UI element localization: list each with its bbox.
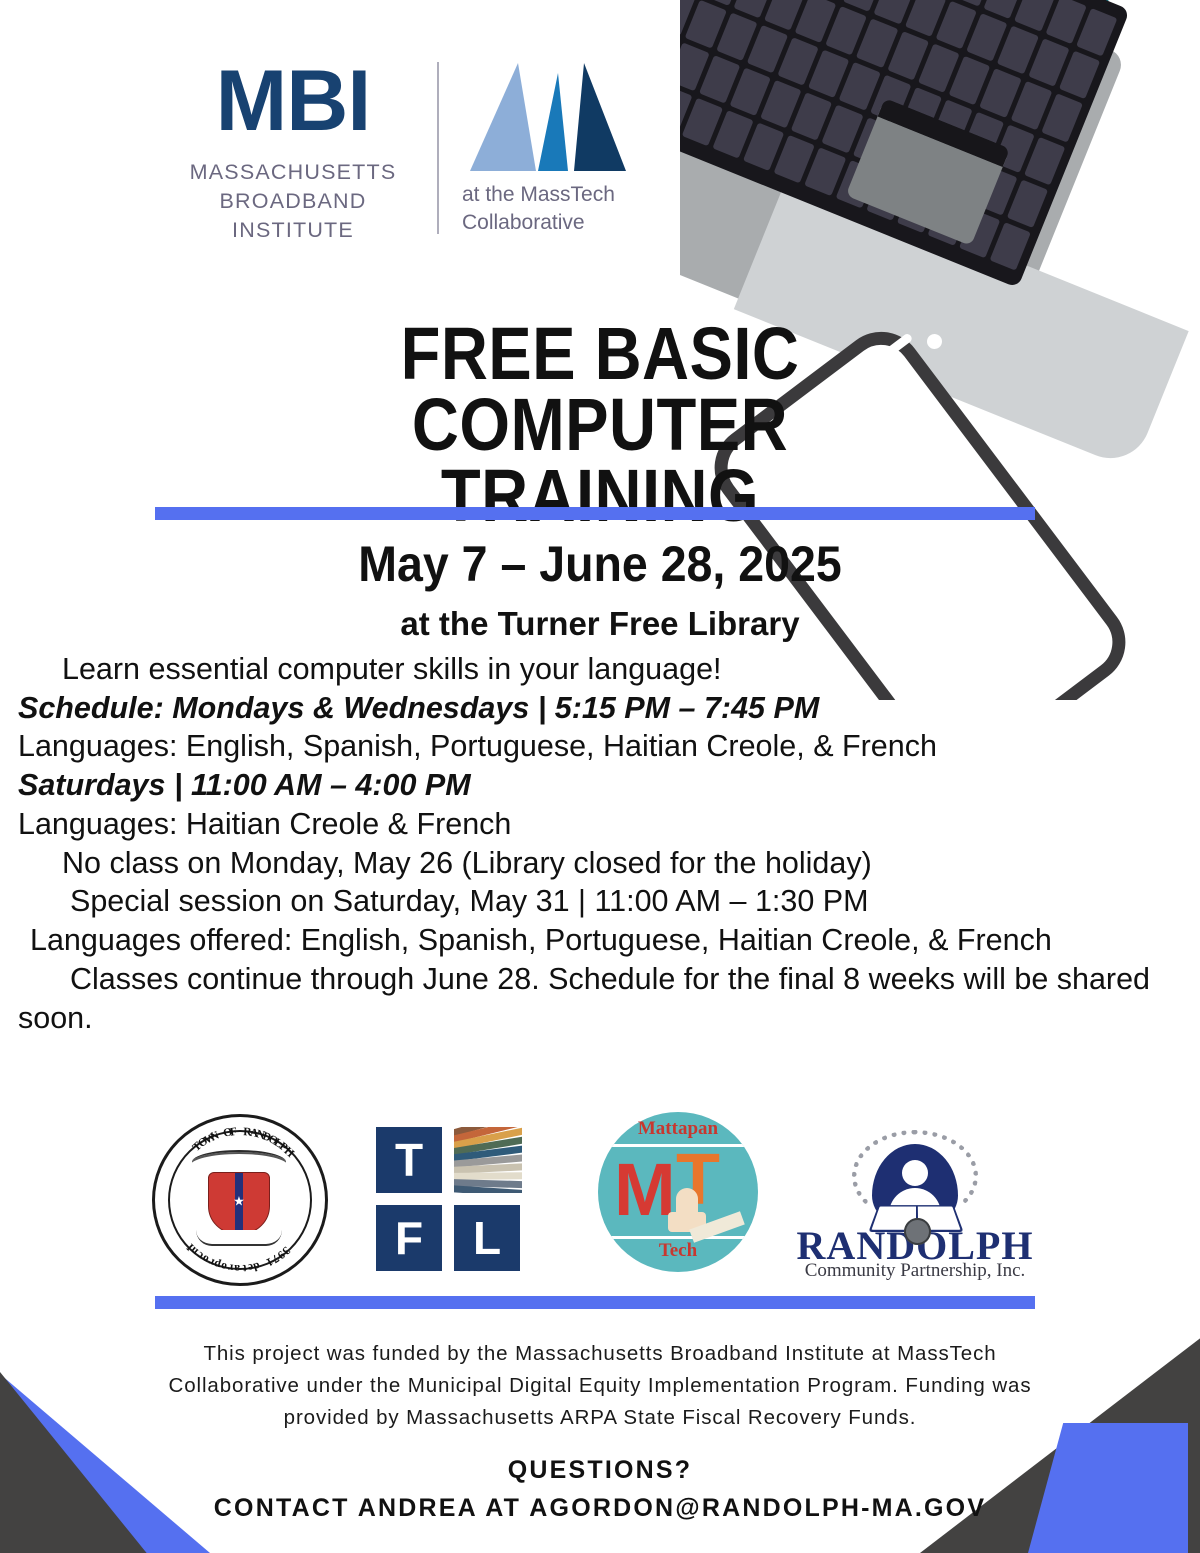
mbi-acronym: MBI bbox=[168, 58, 418, 144]
mattapan-tech-logo: M T Mattapan Tech bbox=[598, 1112, 758, 1272]
laptop-screen-icon bbox=[680, 0, 1171, 41]
details-line: Saturdays | 11:00 AM – 4:00 PM bbox=[18, 766, 1183, 805]
masstech-wordmark: at the MassTech Collaborative bbox=[462, 181, 662, 238]
details-line: No class on Monday, May 26 (Library clos… bbox=[18, 844, 1183, 883]
details-line: Schedule: Mondays & Wednesdays | 5:15 PM… bbox=[18, 689, 1183, 728]
accent-bar-top bbox=[155, 507, 1035, 520]
venue-name: at the Turner Free Library bbox=[150, 605, 1050, 643]
mattapan-person-icon bbox=[676, 1188, 698, 1228]
logo-divider bbox=[437, 62, 439, 234]
flyer-title-line-2: TRAINING bbox=[204, 460, 996, 531]
details-line: Learn essential computer skills in your … bbox=[18, 650, 1183, 689]
tfl-letter-f: F bbox=[376, 1205, 442, 1271]
details-line: Classes continue through June 28. Schedu… bbox=[18, 960, 1183, 1037]
mattapan-label-top: Mattapan bbox=[598, 1118, 758, 1140]
details-line: Languages offered: English, Spanish, Por… bbox=[18, 921, 1183, 960]
mbi-masstech-logo-header: MBI MASSACHUSETTS BROADBAND INSTITUTE at… bbox=[0, 48, 1200, 268]
tfl-letter-t: T bbox=[376, 1127, 442, 1193]
mbi-name-line-1: MASSACHUSETTS bbox=[168, 158, 418, 187]
flyer-title-line-1: FREE BASIC COMPUTER bbox=[204, 318, 996, 460]
accent-bar-bottom bbox=[155, 1296, 1035, 1309]
mbi-name-line-2: BROADBAND INSTITUTE bbox=[168, 187, 418, 245]
triangle-mid-blue-icon bbox=[538, 73, 568, 171]
turner-free-library-logo: T F L bbox=[376, 1127, 522, 1273]
mattapan-monogram-m: M bbox=[614, 1160, 676, 1219]
contact-block: QUESTIONS? CONTACT ANDREA AT AGORDON@RAN… bbox=[150, 1452, 1050, 1527]
details-line: Special session on Saturday, May 31 | 11… bbox=[18, 882, 1183, 921]
town-of-randolph-seal: ★ TOWN OF RANDOLPH Incorporated 1793 bbox=[152, 1114, 328, 1286]
mattapan-label-bottom: Tech bbox=[598, 1240, 758, 1262]
masstech-triangles-icon bbox=[462, 56, 652, 171]
masstech-line-2: Collaborative bbox=[462, 209, 662, 237]
rcp-tagline: Community Partnership, Inc. bbox=[790, 1260, 1040, 1282]
questions-label: QUESTIONS? bbox=[150, 1452, 1050, 1490]
triangle-light-blue-icon bbox=[470, 63, 536, 171]
contact-email-line[interactable]: CONTACT ANDREA AT AGORDON@RANDOLPH-MA.GO… bbox=[150, 1490, 1050, 1528]
rcp-person-head-icon bbox=[902, 1160, 928, 1186]
globe-icon bbox=[904, 1218, 931, 1245]
stacked-books-icon bbox=[454, 1127, 522, 1193]
flyer-title: FREE BASIC COMPUTER TRAINING bbox=[204, 318, 996, 531]
details-line: Languages: Haitian Creole & French bbox=[18, 805, 1183, 844]
seal-bottom-text: Incorporated 1793 bbox=[152, 1114, 328, 1286]
mbi-logo: MBI MASSACHUSETTS BROADBAND INSTITUTE bbox=[168, 58, 418, 245]
partner-logo-row: ★ TOWN OF RANDOLPH Incorporated 1793 T F… bbox=[0, 1112, 1200, 1287]
masstech-line-1: at the MassTech bbox=[462, 181, 662, 209]
triangle-dark-navy-icon bbox=[574, 63, 626, 171]
tfl-letter-l: L bbox=[454, 1205, 520, 1271]
details-text-block: Learn essential computer skills in your … bbox=[18, 650, 1183, 1037]
masstech-collaborative-logo: at the MassTech Collaborative bbox=[462, 56, 662, 238]
mattapan-band-bottom bbox=[598, 1236, 758, 1239]
details-line: Languages: English, Spanish, Portuguese,… bbox=[18, 727, 1183, 766]
mbi-full-name: MASSACHUSETTS BROADBAND INSTITUTE bbox=[168, 158, 418, 245]
randolph-community-partnership-logo: RANDOLPH Community Partnership, Inc. bbox=[790, 1130, 1040, 1270]
date-range: May 7 – June 28, 2025 bbox=[182, 538, 1019, 591]
